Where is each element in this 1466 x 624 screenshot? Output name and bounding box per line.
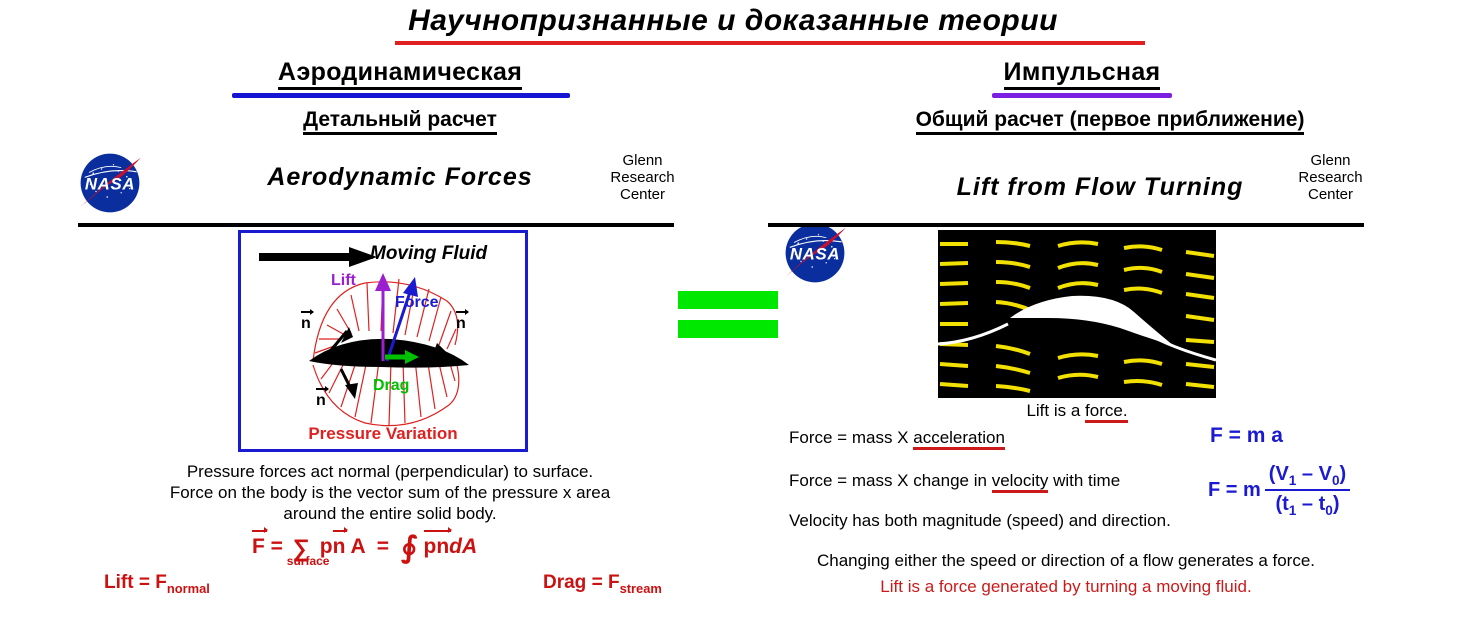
formula-eq-2: = [377,535,389,558]
formula-newton-fraction: F = m (V1 – V0) (t1 – t0) [1208,463,1350,518]
glenn-line-2: Research [595,169,690,186]
left-body-line-1: Pressure forces act normal (perpendicula… [100,461,680,482]
formula-eq-1: = [271,535,283,558]
glenn-line-1: Glenn [1283,152,1378,169]
svg-text:NASA: NASA [790,244,840,263]
airfoil-pressure-diagram [241,233,525,449]
equals-sign-bar-top [678,291,778,309]
formula-n: n [333,535,346,559]
left-body-text: Pressure forces act normal (perpendicula… [100,461,680,524]
normal-vector-label-right: n [456,315,466,333]
formula-fraction-denominator: (t1 – t0) [1265,491,1350,518]
svg-text:NASA: NASA [85,174,135,193]
force-row-3: Velocity has both magnitude (speed) and … [789,510,1171,531]
left-panel-center-name: Glenn Research Center [595,152,690,203]
pressure-variation-caption: Pressure Variation [250,424,516,444]
force-row-1: Force = mass X acceleration [789,427,1005,448]
formula-contour-integral: ∮ [401,531,418,564]
formula-dA: dA [449,535,477,558]
nasa-logo-left: NASA [75,148,145,218]
right-panel-divider [768,223,1364,227]
glenn-line-3: Center [595,186,690,203]
normal-vector-text-3: n [456,315,466,333]
formula-f-equals-ma: F = m a [1210,424,1283,448]
right-column-title: Импульсная [862,58,1302,87]
caption-underlined: force. [1085,401,1128,423]
left-panel-divider [78,223,674,227]
right-column-title-text: Импульсная [1004,58,1161,90]
left-column-subtitle-text: Детальный расчет [303,108,497,135]
formula-pn: pn [424,535,450,559]
formula-fraction-numerator: (V1 – V0) [1265,463,1350,491]
left-column-accent-underline [232,93,570,98]
left-column-title-text: Аэродинамическая [278,58,522,90]
right-panel-center-name: Glenn Research Center [1283,152,1378,203]
closing-line-red: Lift is a force generated by turning a m… [768,576,1364,597]
page-title: Научнопризнанные и доказанные теории [0,4,1466,38]
force-row-2-underlined: velocity [992,471,1049,493]
force-row-1-pre: Force = mass X [789,428,913,447]
left-body-line-3: around the entire solid body. [100,503,680,524]
force-row-2-post: with time [1048,471,1120,490]
left-body-line-2: Force on the body is the vector sum of t… [100,482,680,503]
normal-vector-text-1: n [301,315,311,333]
moving-fluid-arrow [259,247,377,267]
right-panel-title: Lift from Flow Turning [900,173,1300,202]
nasa-meatball-icon: NASA [780,218,850,288]
drag-equation-text: Drag = F [543,572,620,593]
right-column-subtitle-text: Общий расчет (первое приближение) [916,108,1305,135]
pressure-integral-formula: F = ∑ surface pn A = ∮ pndA [252,530,477,565]
lift-label: Lift [331,272,356,290]
normal-vector-label-bottom: n [316,392,326,410]
equals-sign-bar-bottom [678,320,778,338]
left-panel-title: Aerodynamic Forces [200,163,600,192]
formula-sigma-sub: surface [287,554,330,568]
force-row-1-underlined: acceleration [913,428,1005,450]
glenn-line-3: Center [1283,186,1378,203]
moving-fluid-label: Moving Fluid [370,243,487,265]
caption-prefix: Lift is a [1026,401,1085,420]
nasa-meatball-icon: NASA [75,148,145,218]
left-column-title: Аэродинамическая [180,58,620,87]
flow-visualization-photo [938,230,1216,398]
glenn-line-2: Research [1283,169,1378,186]
formula-F: F [252,535,265,559]
glenn-line-1: Glenn [595,152,690,169]
drag-label: Drag [373,377,409,395]
nasa-logo-right: NASA [780,218,850,288]
lift-is-a-force-caption: Lift is a force. [938,400,1216,421]
drag-equation-sub: stream [620,581,662,596]
normal-vector-label-left: n [301,315,311,333]
lift-equation: Lift = Fnormal [104,572,210,596]
smoke-streamlines-airfoil [938,230,1216,398]
force-row-2: Force = mass X change in velocity with t… [789,470,1120,491]
lift-equation-text: Lift = F [104,572,167,593]
left-column-subtitle: Детальный расчет [180,108,620,132]
lift-equation-sub: normal [167,581,210,596]
formula-A: A [350,535,364,558]
force-row-2-pre: Force = mass X change in [789,471,992,490]
closing-line: Changing either the speed or direction o… [768,550,1364,571]
normal-vector-text-2: n [316,392,326,410]
right-column-accent-underline [992,93,1172,98]
drag-equation: Drag = Fstream [543,572,662,596]
force-label: Force [395,294,439,312]
right-column-subtitle: Общий расчет (первое приближение) [760,108,1460,132]
page-title-underline [395,41,1145,45]
